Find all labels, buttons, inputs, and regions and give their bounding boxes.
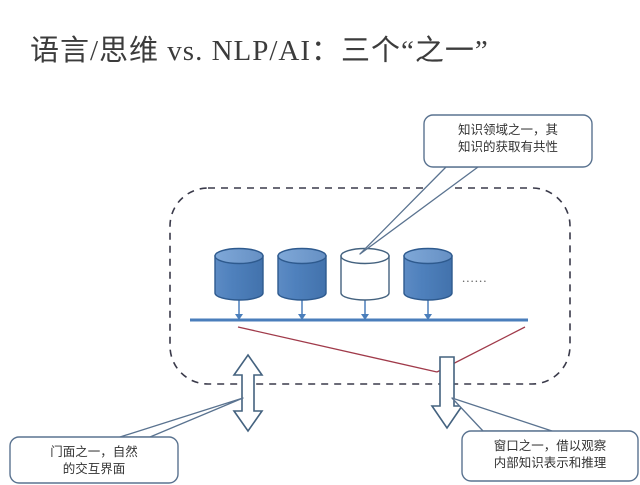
diagram-svg [0,0,640,485]
cylinder-knowledge-domain-2 [278,249,326,301]
callout-interaction-interface-line2: 的交互界面 [14,461,174,478]
callout-knowledge-domain-line1: 知识领域之一，其 [428,122,588,139]
callout-interaction-interface-line1: 门面之一，自然 [14,444,174,461]
callout-interaction-interface-text: 门面之一，自然 的交互界面 [14,444,174,478]
callout-observation-window-line2: 内部知识表示和推理 [466,455,634,472]
cylinders-ellipsis: ...... [462,270,488,286]
red-connector-left [238,327,437,372]
cylinder-knowledge-domain-1 [215,249,263,301]
slide-canvas: 语言/思维 vs. NLP/AI：三个“之一” ...... 知识领域之一，其 … [0,0,640,485]
callout-knowledge-domain-line2: 知识的获取有共性 [428,139,588,156]
callout-observation-window-line1: 窗口之一，借以观察 [466,438,634,455]
observation-window-arrow [432,357,462,428]
callout-knowledge-domain-text: 知识领域之一，其 知识的获取有共性 [428,122,588,156]
interaction-interface-arrow [234,355,262,431]
callout-observation-window-text: 窗口之一，借以观察 内部知识表示和推理 [466,438,634,472]
page-title: 语言/思维 vs. NLP/AI：三个“之一” [30,30,610,72]
cylinder-knowledge-domain-3-empty [341,249,389,301]
cylinder-knowledge-domain-4 [404,249,452,301]
